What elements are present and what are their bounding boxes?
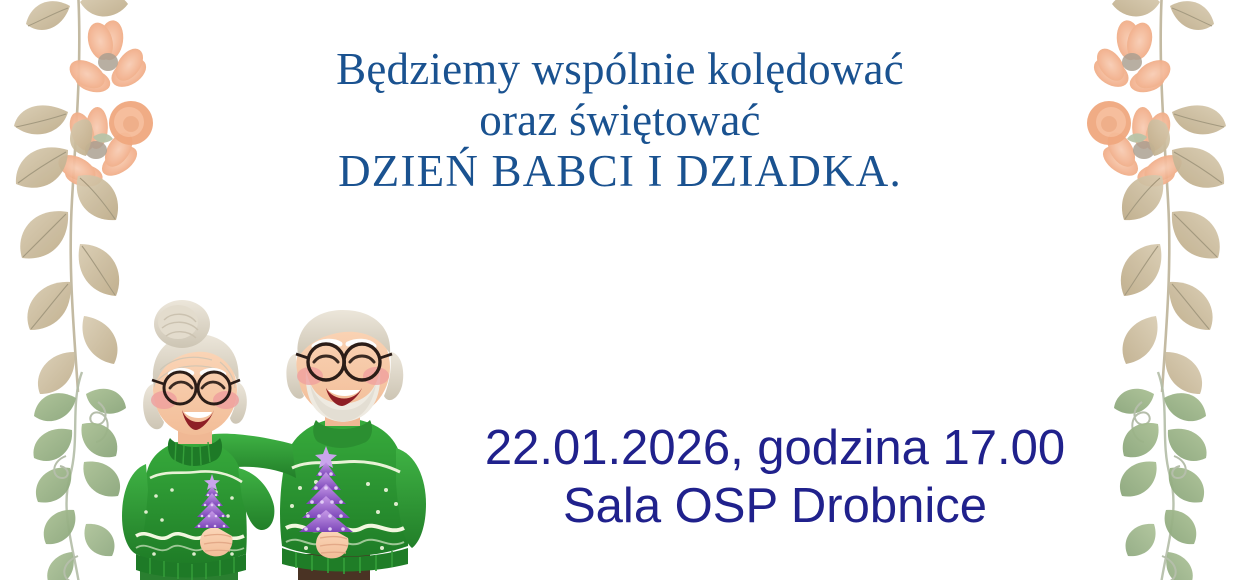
- leaf: [1169, 467, 1204, 502]
- leaf: [1164, 393, 1206, 421]
- leaf: [77, 175, 118, 220]
- leaf: [1122, 175, 1163, 220]
- leaf: [27, 282, 70, 330]
- flower: [65, 19, 152, 96]
- leaf: [84, 524, 114, 556]
- leaf: [1148, 119, 1170, 156]
- leaf: [26, 1, 70, 30]
- leaf: [44, 510, 76, 544]
- leaf: [1168, 429, 1207, 461]
- flower: [54, 107, 142, 190]
- leaf: [1170, 1, 1214, 30]
- leaf: [47, 552, 74, 580]
- leaf: [1126, 524, 1156, 556]
- leaf: [14, 105, 68, 134]
- leaf: [1165, 510, 1197, 544]
- leaf: [79, 244, 120, 296]
- leaf: [36, 467, 71, 502]
- event-venue: Sala OSP Drobnice: [455, 478, 1095, 536]
- flower: [1098, 107, 1186, 190]
- headline-block: Będziemy wspólnie kolędować oraz świętow…: [175, 44, 1065, 197]
- leaf: [1172, 147, 1224, 187]
- flower: [1089, 19, 1176, 96]
- leaf: [16, 147, 68, 187]
- leaf: [82, 316, 117, 364]
- leaf: [70, 119, 92, 156]
- leaf: [1120, 461, 1157, 496]
- leaf: [1114, 389, 1154, 414]
- leaf: [1166, 552, 1193, 580]
- headline-line-1: Będziemy wspólnie kolędować: [175, 44, 1065, 95]
- leaf: [81, 423, 117, 457]
- poster-canvas: Będziemy wspólnie kolędować oraz świętow…: [0, 0, 1240, 580]
- leaf: [1172, 105, 1226, 134]
- leaf: [33, 429, 72, 461]
- leaf: [1172, 211, 1220, 258]
- leaf: [1112, 0, 1160, 16]
- flower: [93, 101, 153, 145]
- leaf: [38, 352, 75, 394]
- leaf: [1165, 352, 1202, 394]
- headline-line-3: DZIEŃ BABCI I DZIADKA.: [175, 146, 1065, 197]
- flower: [1087, 101, 1147, 145]
- leaf: [1121, 244, 1162, 296]
- leaf: [1169, 282, 1212, 330]
- leaf: [80, 0, 128, 16]
- elderly-couple-illustration: [120, 292, 460, 580]
- leaf: [1123, 316, 1158, 364]
- leaf: [34, 393, 76, 421]
- leaf: [20, 211, 68, 258]
- leaf: [83, 461, 120, 496]
- event-datetime: 22.01.2026, godzina 17.00: [455, 420, 1095, 478]
- leaf: [1123, 423, 1159, 457]
- headline-line-2: oraz świętować: [175, 95, 1065, 146]
- event-details-block: 22.01.2026, godzina 17.00 Sala OSP Drobn…: [455, 420, 1095, 536]
